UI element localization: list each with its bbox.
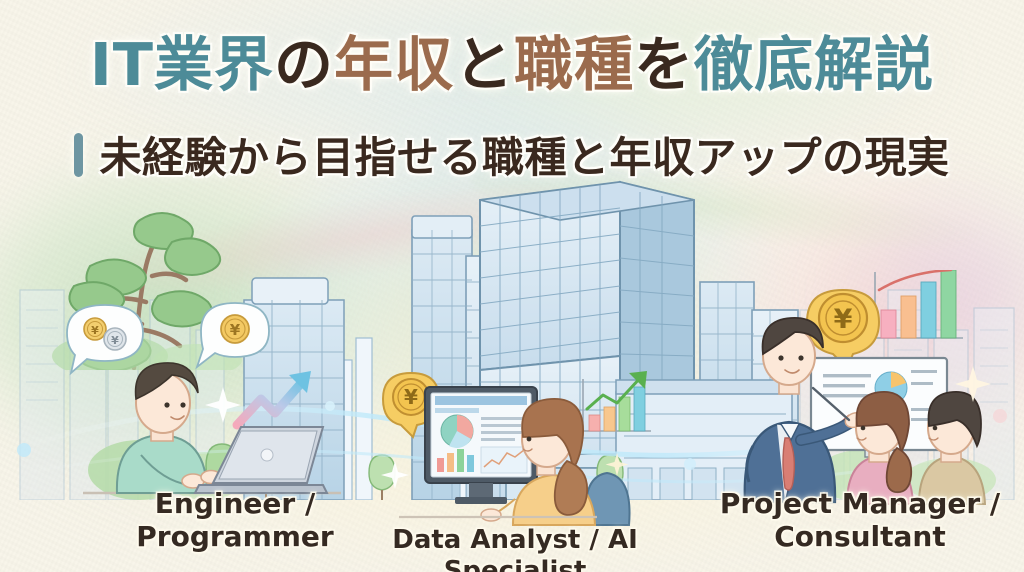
caption-line-2: Consultant [690, 520, 1024, 553]
desktop-monitor [425, 387, 537, 504]
title-segment-1: の [274, 30, 334, 99]
sparkle-icon [381, 461, 409, 489]
line-chart-icon [481, 447, 527, 473]
yen-coin-silver: ¥ [104, 328, 126, 350]
bar-chart-up-icon [583, 371, 651, 431]
title-segment-2: 年収 [334, 30, 454, 99]
data-analyst-scene: ¥ [365, 365, 665, 530]
page-subtitle: 未経験から目指せる職種と年収アップの現実 [99, 124, 949, 185]
caption-data-analyst: Data Analyst / AI Specialist [340, 525, 690, 572]
title-segment-5: を [634, 30, 694, 99]
growth-arrow-icon [237, 371, 311, 425]
pie-chart-icon [441, 415, 473, 448]
speech-bubble-yen: ¥ [197, 303, 269, 367]
person-engineer [117, 363, 221, 493]
title-segment-0: IT業界 [90, 30, 274, 99]
title-segment-3: と [454, 30, 514, 99]
svg-text:¥: ¥ [91, 324, 99, 337]
caption-project-manager: Project Manager / Consultant [690, 487, 1024, 553]
svg-text:¥: ¥ [230, 321, 241, 339]
laptop-icon [195, 427, 327, 493]
bar-chart-up-icon [875, 270, 963, 338]
page-title: IT業界の年収と職種を徹底解説 [0, 34, 1024, 96]
speech-bubble-coins: ¥ ¥ [67, 305, 143, 373]
sparkle-icon [205, 387, 241, 423]
svg-text:¥: ¥ [111, 334, 119, 347]
svg-text:¥: ¥ [404, 385, 418, 409]
caption-line-1: Project Manager / [690, 487, 1024, 520]
yen-coin-gold: ¥ [84, 318, 106, 340]
headline-block: IT業界の年収と職種を徹底解説 [0, 34, 1024, 96]
project-manager-scene: ¥ [735, 270, 1020, 505]
illustration-canvas: ¥ ¥ ¥ [0, 0, 1024, 572]
accent-bar [74, 133, 83, 177]
title-segment-6: 徹底解説 [694, 30, 934, 99]
engineer-programmer-scene: ¥ ¥ ¥ [55, 295, 345, 510]
caption-line-1: Engineer / [60, 487, 410, 520]
title-segment-4: 職種 [514, 30, 634, 99]
svg-text:¥: ¥ [834, 304, 853, 335]
subtitle-block: 未経験から目指せる職種と年収アップの現実 [0, 124, 1024, 185]
